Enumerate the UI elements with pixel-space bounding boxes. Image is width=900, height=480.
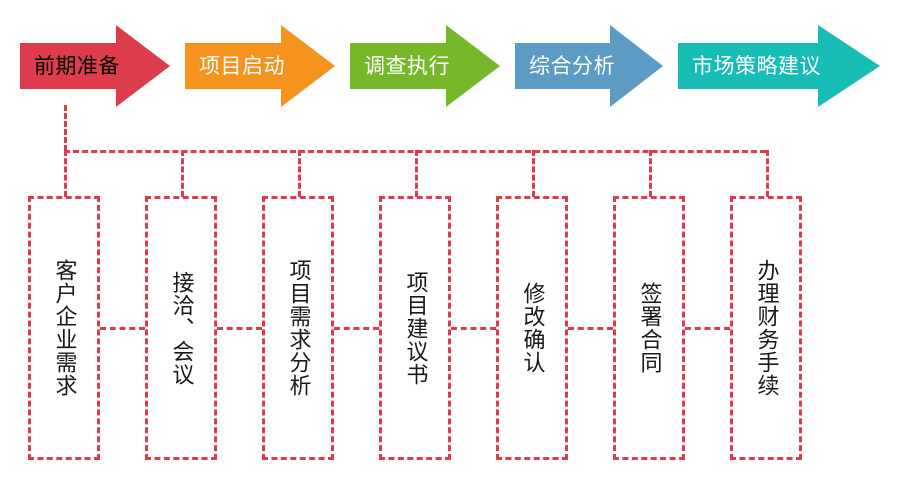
connector-drop-6 [649,150,652,197]
stage-arrow-1[interactable]: 前期准备 [20,25,170,107]
task-box-3[interactable]: 项目需求分析 [262,196,334,460]
connector-drop-3 [298,150,301,197]
box-link-3-4 [334,327,379,330]
task-box-4[interactable]: 项目建议书 [379,196,451,460]
connector-drop-1 [64,150,67,197]
stage-arrow-3-label: 调查执行 [350,56,450,77]
connector-drop-4 [415,150,418,197]
stage-arrow-4[interactable]: 综合分析 [515,25,663,107]
connector-drop-7 [766,150,769,197]
task-box-5-label: 修改确认 [521,282,544,374]
task-box-7-label: 办理财务手续 [755,259,778,397]
task-box-7[interactable]: 办理财务手续 [730,196,802,460]
task-box-3-label: 项目需求分析 [287,259,310,397]
stage-arrow-1-label: 前期准备 [20,56,120,77]
box-link-4-5 [451,327,496,330]
box-link-1-2 [100,327,145,330]
connector-source-drop [64,105,67,151]
task-box-6[interactable]: 签署合同 [613,196,685,460]
task-box-2-label: 接洽、会议 [170,271,193,386]
task-box-4-label: 项目建议书 [404,271,427,386]
task-box-1-label: 客户企业需求 [53,259,76,397]
task-box-6-label: 签署合同 [638,282,661,374]
stage-arrow-2[interactable]: 项目启动 [185,25,335,107]
box-link-2-3 [217,327,262,330]
stage-arrow-2-label: 项目启动 [185,56,285,77]
box-link-5-6 [568,327,613,330]
stage-arrow-5-label: 市场策略建议 [678,56,821,77]
stage-arrow-4-label: 综合分析 [515,56,615,77]
connector-drop-2 [181,150,184,197]
flow-diagram-canvas: 前期准备 项目启动 调查执行 综合分析 市场策略建议 [0,0,900,480]
connector-drop-5 [532,150,535,197]
stage-arrow-3[interactable]: 调查执行 [350,25,500,107]
task-box-5[interactable]: 修改确认 [496,196,568,460]
task-box-2[interactable]: 接洽、会议 [145,196,217,460]
box-link-6-7 [685,327,730,330]
stage-arrow-5[interactable]: 市场策略建议 [678,25,880,107]
task-box-1[interactable]: 客户企业需求 [28,196,100,460]
